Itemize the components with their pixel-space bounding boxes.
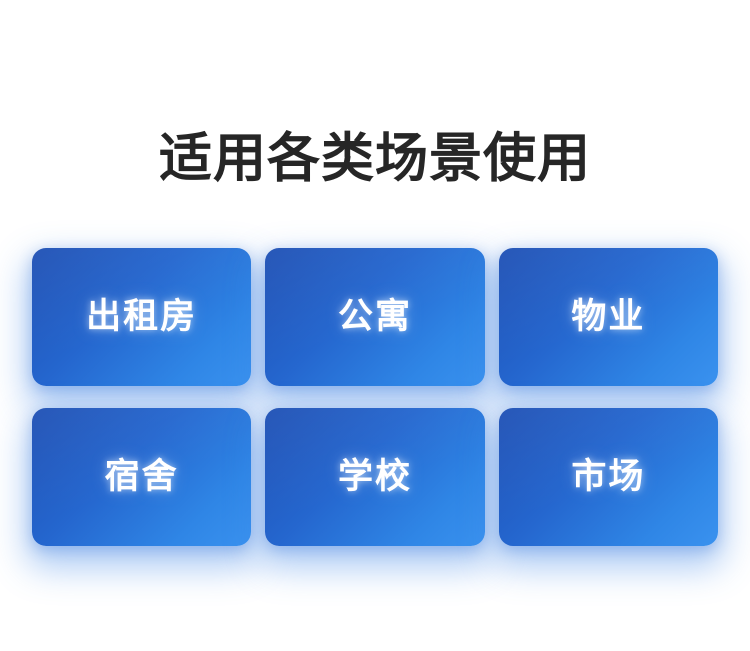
- scene-card-school[interactable]: 学校: [265, 408, 484, 546]
- scene-card-apartment[interactable]: 公寓: [265, 248, 484, 386]
- page-title: 适用各类场景使用: [0, 128, 750, 190]
- scene-card-property-management[interactable]: 物业: [499, 248, 718, 386]
- scene-card-label: 学校: [338, 457, 412, 497]
- scene-showcase-page: 适用各类场景使用 出租房 公寓 物业 宿舍 学校 市场: [0, 0, 750, 651]
- scene-card-label: 市场: [571, 457, 645, 497]
- scene-card-market[interactable]: 市场: [499, 408, 718, 546]
- scene-card-label: 出租房: [86, 297, 197, 337]
- scene-card-label: 宿舍: [105, 457, 179, 497]
- scene-card-rental-house[interactable]: 出租房: [32, 248, 251, 386]
- scene-card-grid: 出租房 公寓 物业 宿舍 学校 市场: [32, 248, 718, 546]
- scene-card-label: 物业: [571, 297, 645, 337]
- scene-card-dormitory[interactable]: 宿舍: [32, 408, 251, 546]
- scene-card-label: 公寓: [338, 297, 412, 337]
